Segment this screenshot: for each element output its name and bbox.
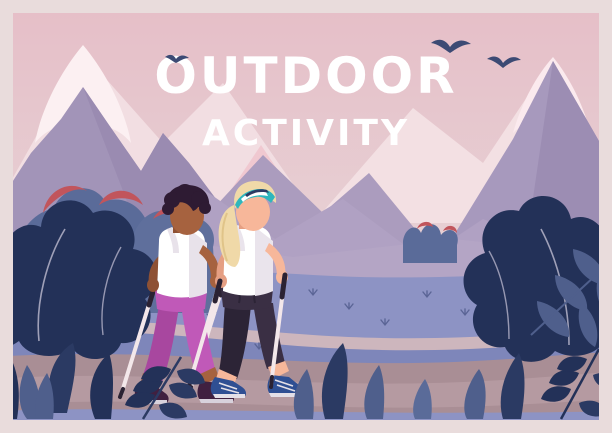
poster-title-line2: ACTIVITY [202,113,410,154]
scene-svg: OUTDOOR ACTIVITY [13,13,599,420]
hiker-left-hand-back [147,278,159,292]
distant-bush-clump [403,222,458,263]
poster-title-line1: OUTDOOR [154,47,457,105]
illustration-canvas: OUTDOOR ACTIVITY [13,13,599,420]
poster-frame: OUTDOOR ACTIVITY [0,0,612,433]
